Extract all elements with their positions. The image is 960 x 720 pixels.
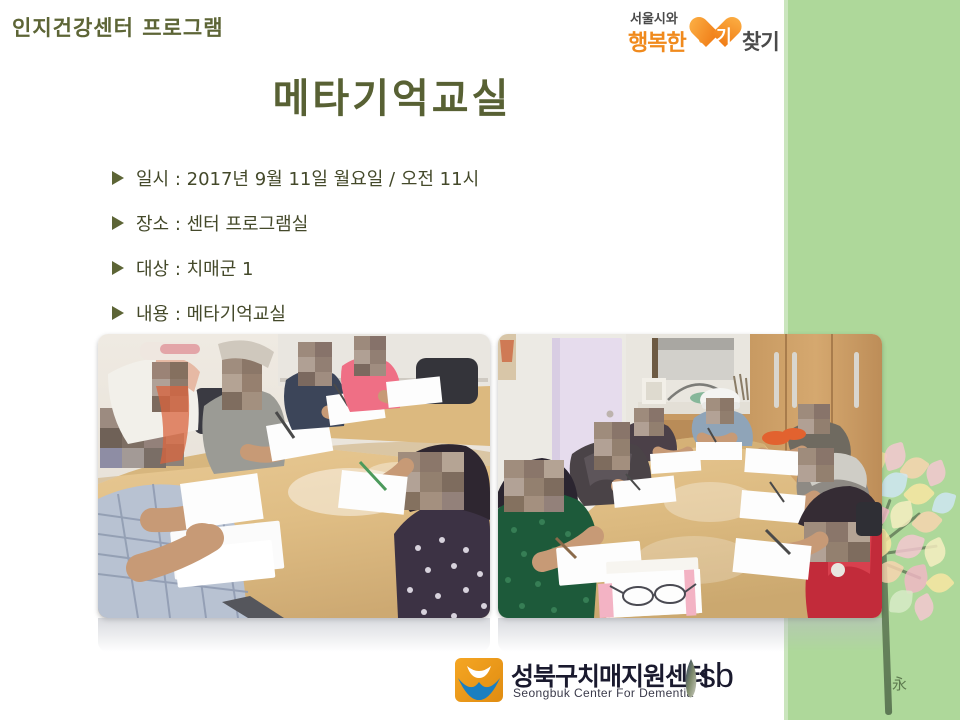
feather-icon	[683, 659, 699, 703]
page-title: 메타기억교실	[0, 66, 784, 124]
triangle-right-icon	[112, 171, 124, 185]
tree-leaf	[925, 568, 955, 598]
list-item-label: 장소 : 센터 프로그램실	[136, 210, 308, 236]
footer-logo: 성북구치매지원센터 Seongbuk Center For Dementia s…	[455, 655, 775, 713]
triangle-right-icon	[112, 261, 124, 275]
footer-center-name-en: Seongbuk Center For Dementia	[513, 686, 694, 700]
seoul-city-logo: 서울시와 행복한 기 찾기	[628, 8, 780, 56]
program-photo-2	[498, 334, 882, 618]
photo-1-reflection	[98, 618, 490, 652]
slide: 永 인지건강센터 프로그램 서울시와 행복한 기 찾기 메타기억교실 일시 : …	[0, 0, 960, 720]
pixelated-face	[222, 356, 262, 410]
list-item: 대상 : 치매군 1	[112, 245, 752, 290]
tree-leaf	[910, 593, 938, 622]
triangle-right-icon	[112, 306, 124, 320]
pixelated-face	[298, 342, 332, 386]
photo-1-graphic	[98, 334, 490, 618]
tree-mark-glyph: 永	[892, 673, 907, 694]
footer-sb-mark: sb	[699, 657, 733, 696]
pixelated-face	[354, 336, 386, 376]
seongbuk-emblem-icon	[455, 658, 503, 702]
seoul-logo-tail: 찾기	[742, 26, 779, 56]
list-item: 장소 : 센터 프로그램실	[112, 200, 752, 245]
tree-leaf	[889, 589, 913, 614]
seoul-logo-line2: 행복한	[628, 25, 686, 57]
heart-inner-char: 기	[716, 22, 732, 47]
list-item-label: 대상 : 치매군 1	[136, 255, 253, 281]
pixelated-face	[504, 460, 564, 512]
tree-leaf	[895, 531, 926, 562]
list-item: 내용 : 메타기억교실	[112, 290, 752, 335]
heart-icon: 기	[706, 18, 742, 51]
list-item: 일시 : 2017년 9월 11일 월요일 / 오전 11시	[112, 155, 752, 200]
pixelated-face	[798, 404, 830, 434]
info-bullet-list: 일시 : 2017년 9월 11일 월요일 / 오전 11시 장소 : 센터 프…	[112, 155, 752, 335]
list-item-label: 내용 : 메타기억교실	[136, 300, 286, 326]
triangle-right-icon	[112, 216, 124, 230]
pixelated-face	[798, 448, 834, 482]
pixelated-face	[706, 398, 734, 424]
program-photo-1	[98, 334, 490, 618]
header-program-label: 인지건강센터 프로그램	[12, 12, 224, 42]
tree-leaf	[920, 536, 950, 567]
tree-leaf	[931, 490, 956, 516]
pixelated-face	[634, 408, 664, 436]
pixelated-face	[594, 422, 630, 470]
list-item-label: 일시 : 2017년 9월 11일 월요일 / 오전 11시	[136, 165, 479, 191]
person-figure-icon	[457, 664, 501, 700]
photo-2-graphic	[498, 334, 882, 618]
